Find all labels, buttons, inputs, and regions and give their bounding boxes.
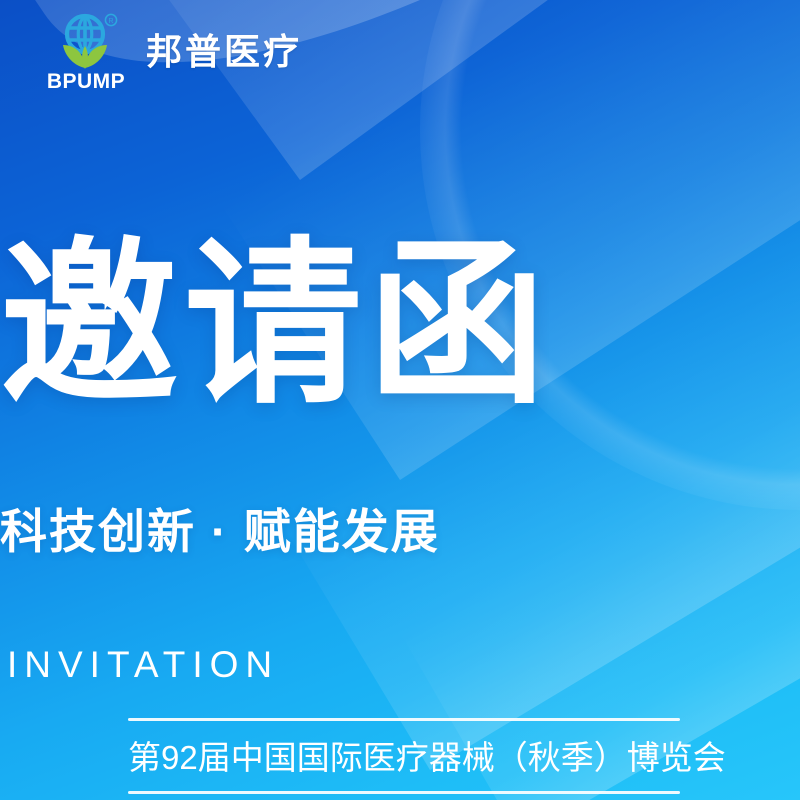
sub-title-slogan: 科技创新 · 赋能发展	[0, 508, 800, 555]
invitation-poster: R BPUMP 邦普医疗 邀请函 科技创新 · 赋能发展 INVITATION …	[0, 0, 800, 800]
event-name: 第92届中国国际医疗器械（秋季）博览会	[128, 721, 680, 791]
logo-wordmark: BPUMP	[48, 70, 125, 92]
english-title: INVITATION	[0, 646, 800, 683]
main-title: 邀请函	[0, 236, 800, 414]
svg-text:R: R	[108, 18, 113, 25]
divider-bottom	[128, 791, 680, 794]
company-name: 邦普医疗	[146, 34, 302, 70]
brand-logo-block: R BPUMP 邦普医疗	[48, 12, 302, 92]
event-band: 第92届中国国际医疗器械（秋季）博览会	[128, 718, 680, 794]
bpump-globe-leaf-logo-icon: R BPUMP	[48, 12, 130, 92]
